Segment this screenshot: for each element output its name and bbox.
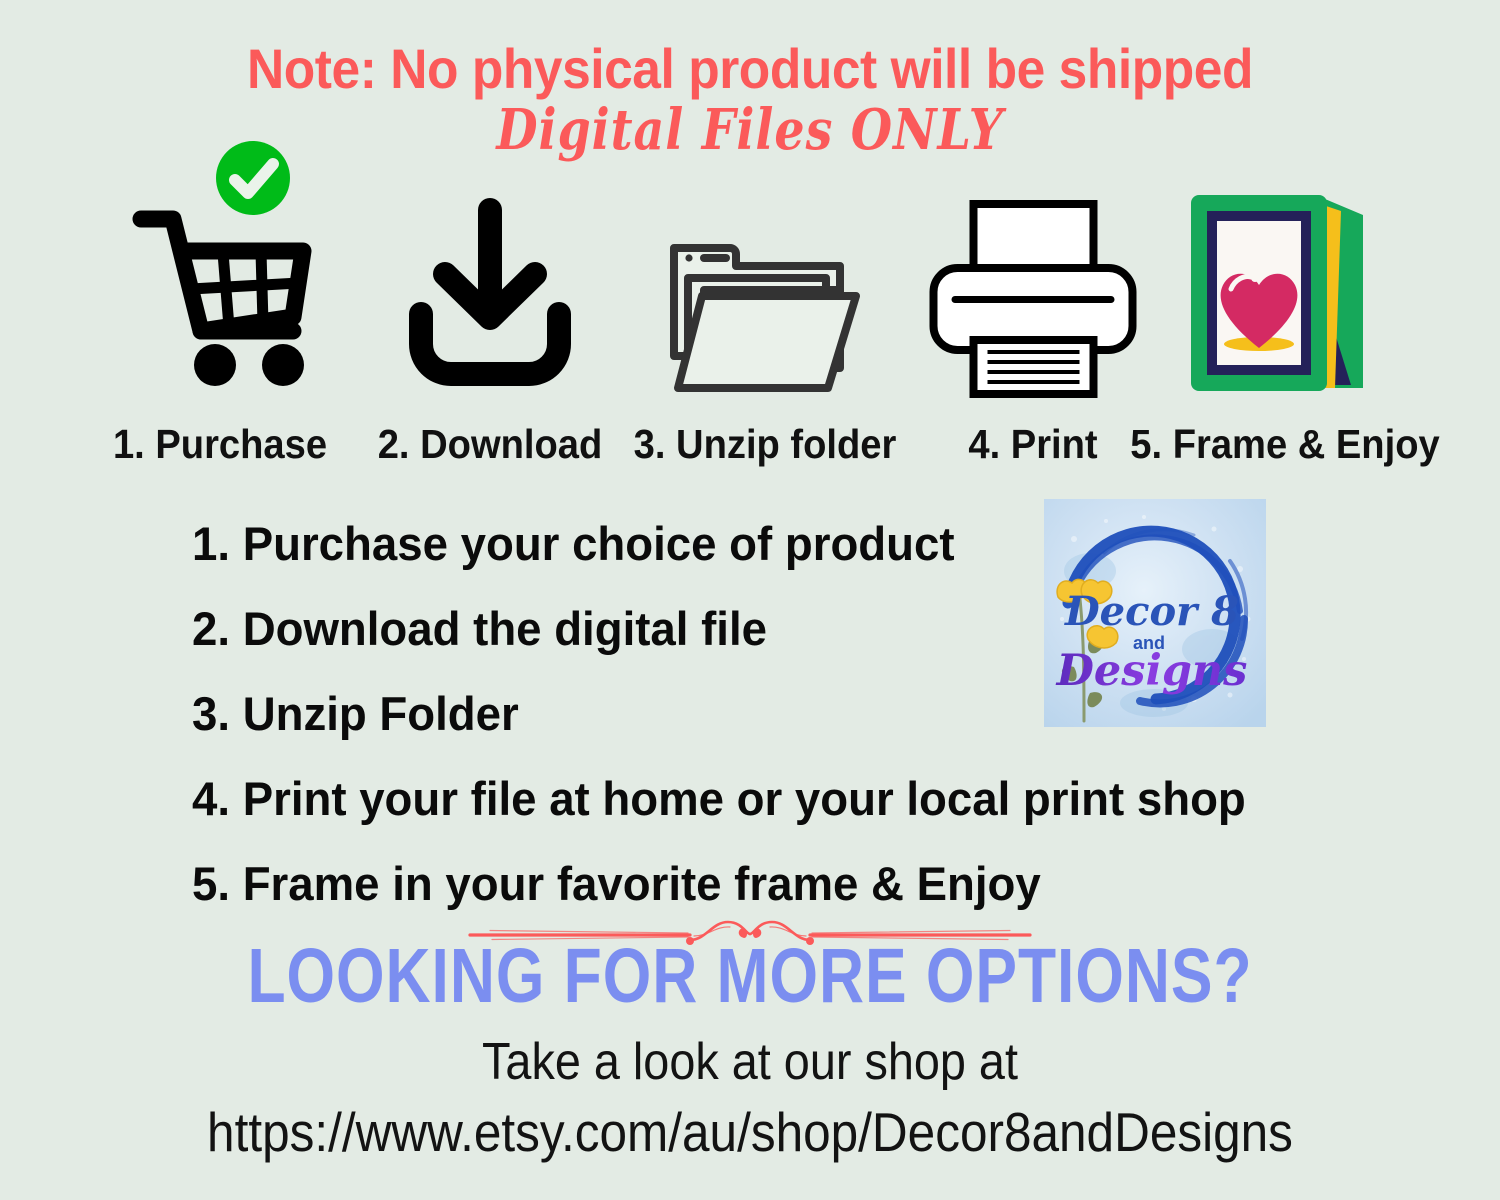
shop-invite-text: Take a look at our shop at bbox=[75, 1032, 1425, 1092]
step-label: 1. Purchase bbox=[113, 421, 327, 468]
step-label: 2. Download bbox=[378, 421, 603, 468]
list-item: 4. Print your file at home or your local… bbox=[192, 775, 1259, 822]
step-print: 4. Print bbox=[915, 148, 1150, 468]
list-item: 5. Frame in your favorite frame & Enjoy bbox=[192, 860, 1259, 907]
step-label: 3. Unzip folder bbox=[634, 421, 897, 468]
step-label: 4. Print bbox=[968, 421, 1097, 468]
poster-canvas: Note: No physical product will be shippe… bbox=[0, 0, 1500, 1200]
step-download: 2. Download bbox=[340, 148, 640, 468]
step-frame-enjoy: 5. Frame & Enjoy bbox=[1130, 148, 1440, 468]
svg-text:Designs: Designs bbox=[1055, 646, 1248, 696]
shop-url[interactable]: https://www.etsy.com/au/shop/Decor8andDe… bbox=[75, 1100, 1425, 1164]
printer-icon bbox=[925, 196, 1140, 406]
more-options-heading: LOOKING FOR MORE OPTIONS? bbox=[30, 931, 1470, 1020]
shopping-cart-check-icon bbox=[125, 141, 315, 406]
steps-strip: 1. Purchase 2. Download bbox=[70, 148, 1440, 468]
picture-frame-heart-icon bbox=[1175, 173, 1395, 406]
svg-text:Decor 8: Decor 8 bbox=[1064, 588, 1239, 635]
shop-logo: Decor 8 and Designs bbox=[1044, 499, 1266, 727]
step-label: 5. Frame & Enjoy bbox=[1130, 421, 1439, 468]
page-title: Note: No physical product will be shippe… bbox=[60, 36, 1440, 101]
open-folder-icon bbox=[660, 236, 870, 406]
download-arrow-icon bbox=[405, 196, 575, 406]
step-unzip-folder: 3. Unzip folder bbox=[600, 148, 930, 468]
step-purchase: 1. Purchase bbox=[70, 148, 370, 468]
